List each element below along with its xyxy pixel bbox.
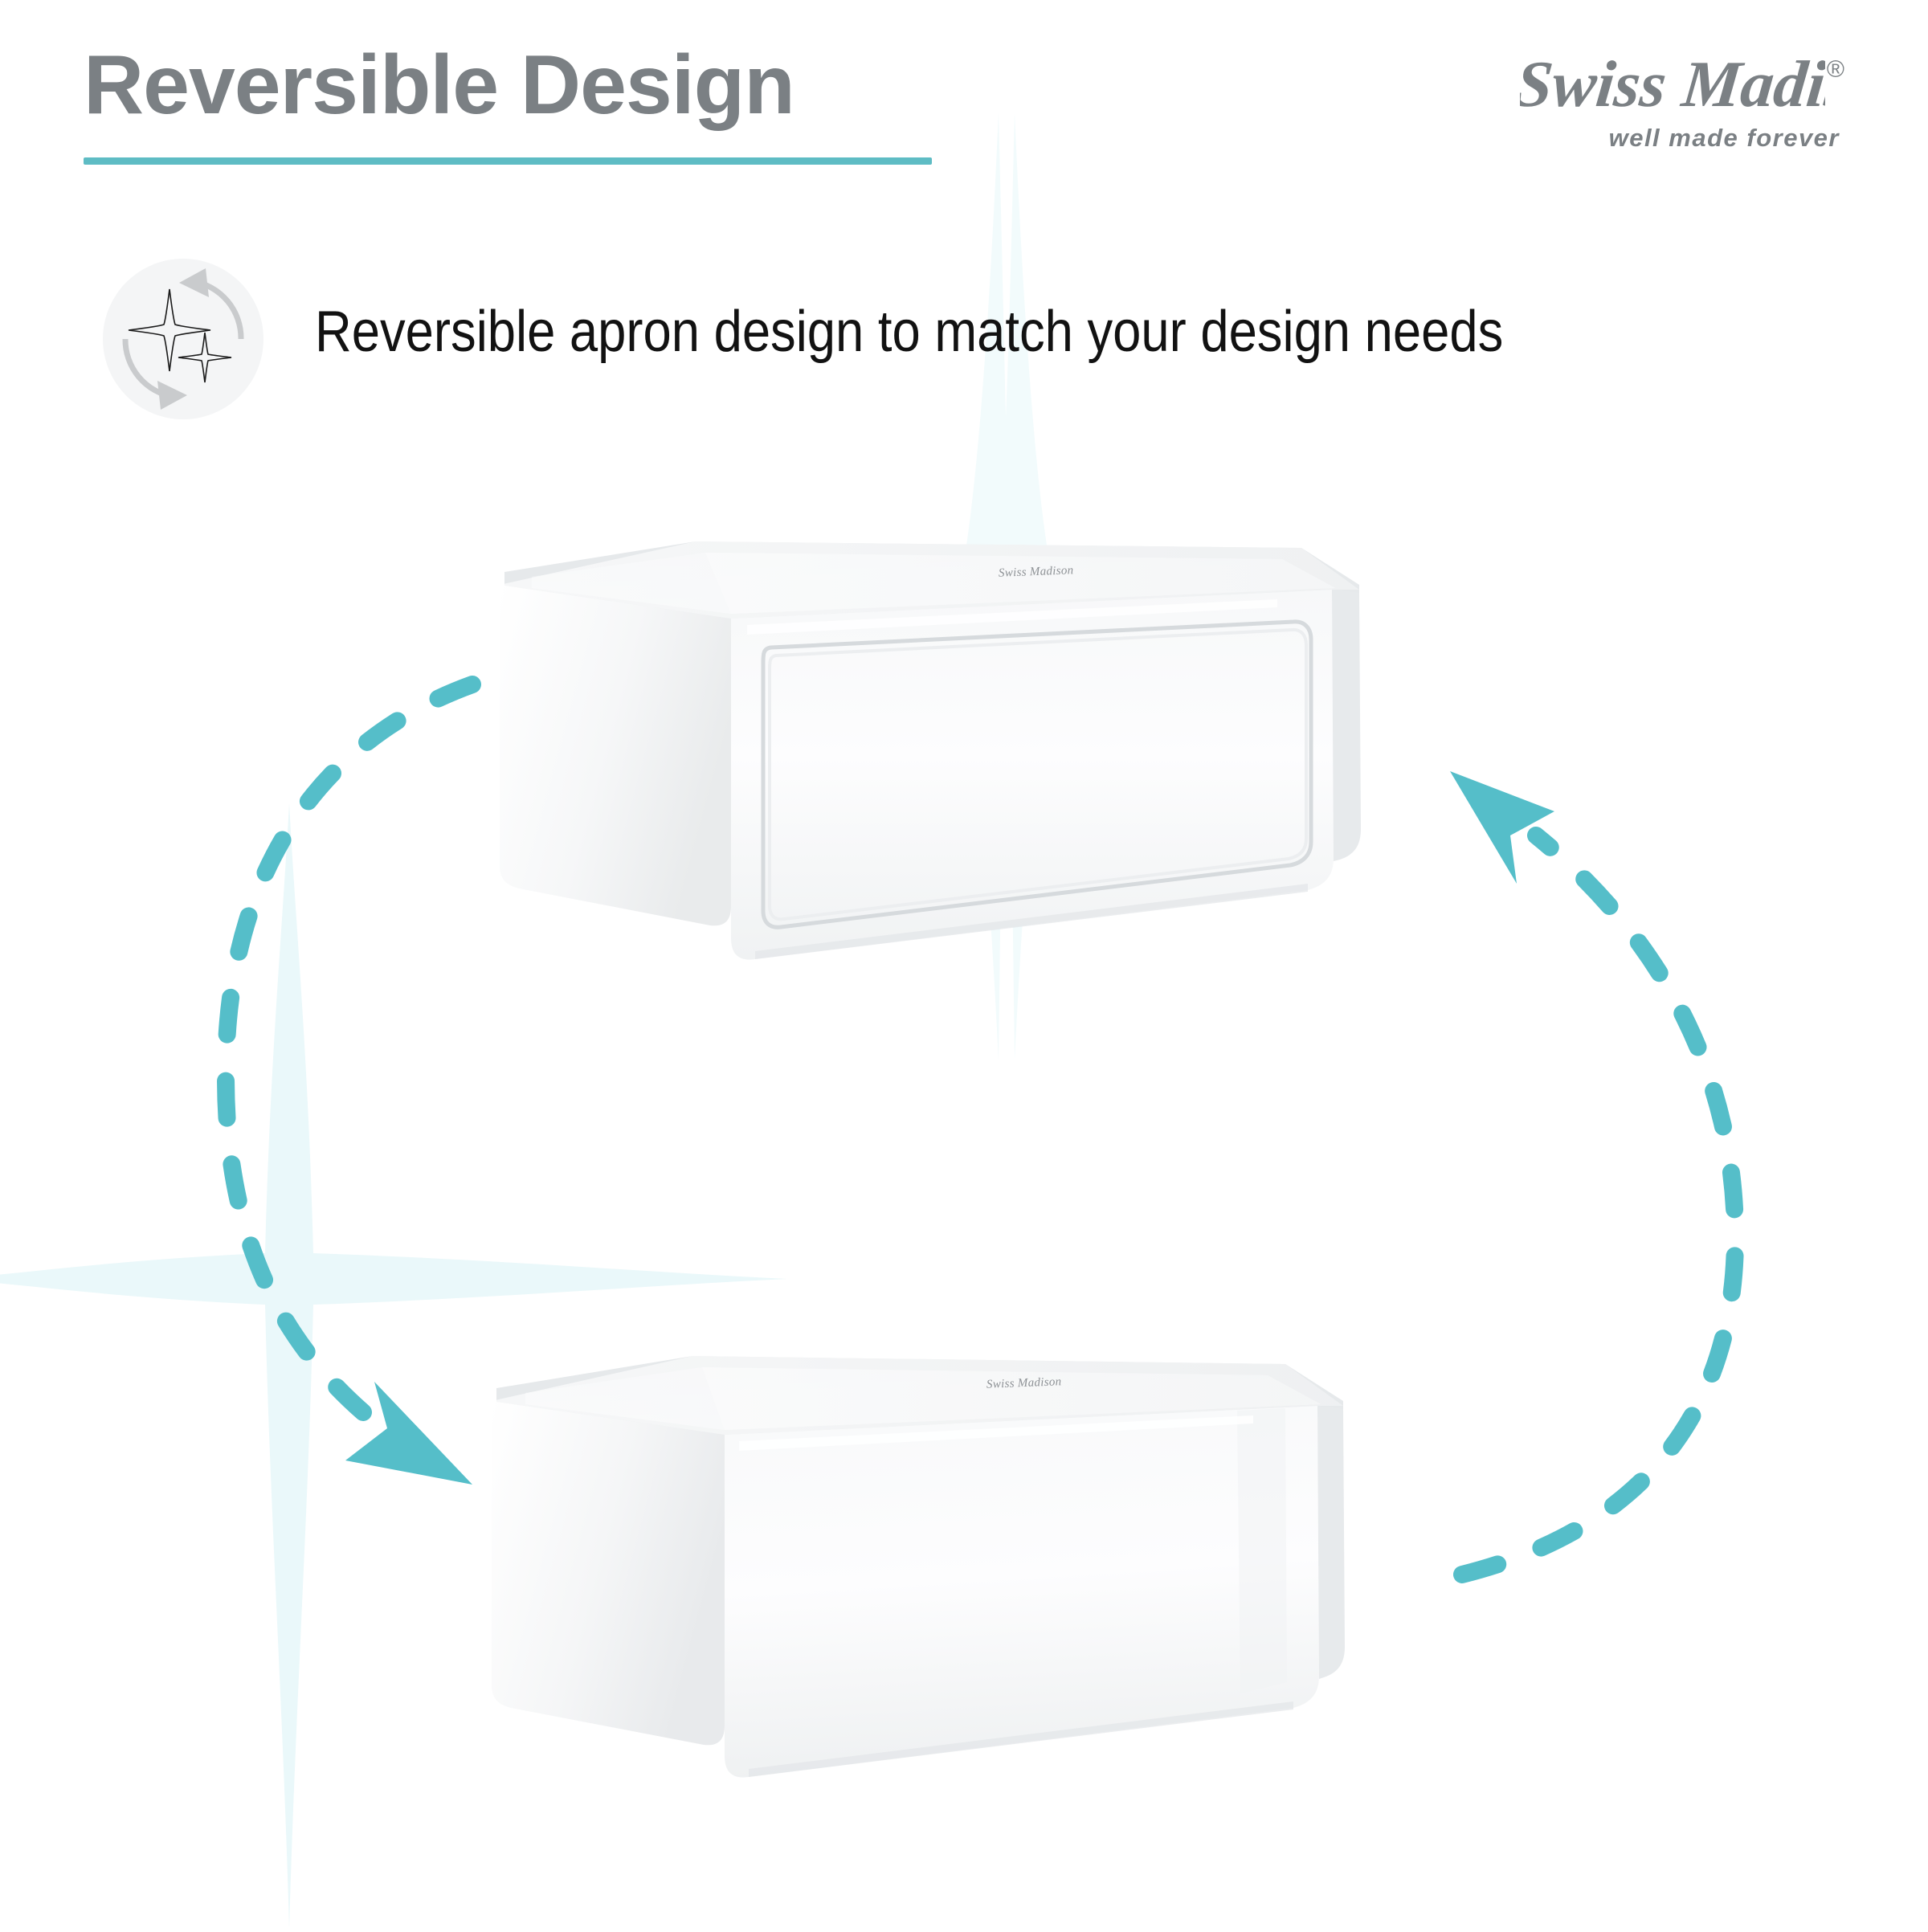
brand-tagline: well made forever: [1609, 124, 1840, 153]
flip-arrow-down-icon: [345, 1382, 472, 1485]
product-image-top-sink: Swiss Madison: [490, 530, 1470, 980]
sink-right-side-face: [1317, 1406, 1345, 1679]
brand-logo-script: Swiss Madison: [1520, 47, 1825, 127]
title-underline: [84, 157, 932, 165]
sparkle-star-large-icon: [129, 289, 210, 371]
sink-fluted-svg: [490, 530, 1470, 980]
sink-left-side-face: [500, 585, 731, 925]
sink-brand-engraving: Swiss Madison: [986, 1375, 1062, 1392]
product-image-bottom-sink: Swiss Madison: [482, 1342, 1462, 1799]
registered-mark-icon: ®: [1827, 56, 1844, 84]
flow-path-left: [226, 684, 472, 1412]
feature-description: Reversible apron design to match your de…: [315, 299, 1503, 365]
sparkle-star-small-icon: [178, 333, 231, 382]
sink-brand-engraving: Swiss Madison: [999, 564, 1074, 581]
feature-icon-badge: [103, 259, 263, 419]
sink-right-side-face: [1332, 590, 1361, 861]
sink-front-apron: [725, 1406, 1319, 1778]
sink-front-gloss-band: [1237, 1408, 1287, 1693]
sink-left-side-face: [492, 1401, 725, 1745]
rotation-arrow-head-top: [179, 268, 209, 297]
feature-row: Reversible apron design to match your de…: [0, 249, 1928, 442]
sink-smooth-svg: [482, 1342, 1462, 1799]
reversible-sparkle-icon: [103, 259, 263, 419]
page-title: Reversible Design: [84, 42, 794, 129]
brand-logo: Swiss Madison ® well made forever: [1520, 47, 1841, 167]
rotation-arrow-head-bottom: [157, 381, 187, 410]
brand-logo-text: Swiss Madison: [1520, 47, 1825, 120]
flow-path-right: [1462, 835, 1735, 1575]
product-feature-graphic: Reversible Design Swiss Madison ® well m…: [0, 0, 1928, 1928]
header: Reversible Design Swiss Madison ® well m…: [0, 0, 1928, 209]
